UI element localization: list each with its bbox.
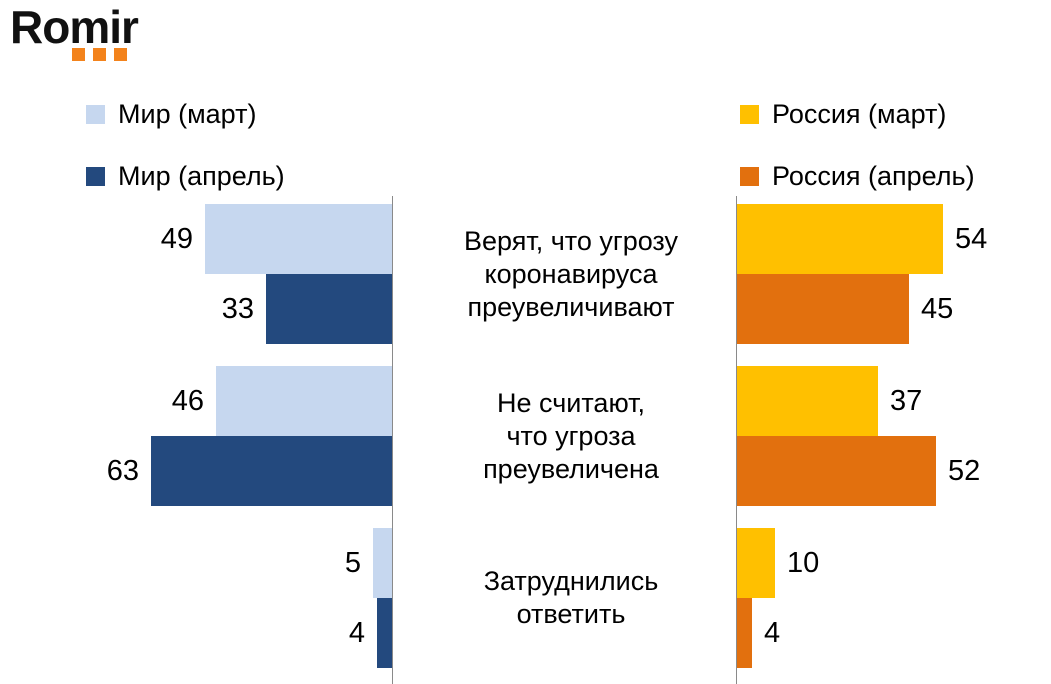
legend-swatch-world-march (86, 105, 105, 124)
bar-value-label: 46 (172, 385, 204, 417)
legend-swatch-russia-march (740, 105, 759, 124)
bar-row: 4 (377, 598, 392, 668)
logo-square-icon-1 (72, 48, 85, 61)
bar (205, 204, 392, 274)
category-label: Затруднилисьответить (412, 565, 730, 631)
bar (373, 528, 392, 598)
bar-value-label: 52 (948, 455, 980, 487)
category-label-line: преувеличивают (412, 291, 730, 324)
legend-item-world-march: Мир (март) (86, 83, 285, 145)
category-label-line: Не считают, (412, 387, 730, 420)
bar-value-label: 10 (787, 547, 819, 579)
logo-square-icon-2 (93, 48, 106, 61)
bar (216, 366, 392, 436)
bar-value-label: 4 (764, 617, 780, 649)
category-label: Не считают,что угрозапреувеличена (412, 387, 730, 486)
bar-row: 46 (216, 366, 392, 436)
category-label-line: коронавируса (412, 258, 730, 291)
legend-world: Мир (март) Мир (апрель) (86, 83, 285, 207)
bar-row: 37 (737, 366, 878, 436)
bar-row: 63 (151, 436, 392, 506)
bar (737, 366, 878, 436)
bar (151, 436, 392, 506)
legend-label-russia-april: Россия (апрель) (772, 161, 975, 191)
legend-item-russia-march: Россия (март) (740, 83, 975, 145)
bar-row: 54 (737, 204, 943, 274)
bar-value-label: 5 (345, 547, 361, 579)
category-label: Верят, что угрозукоронавирусапреувеличив… (412, 225, 730, 324)
category-label-line: Верят, что угрозу (412, 225, 730, 258)
romir-logo: Romir (8, 4, 208, 66)
legend-swatch-russia-april (740, 167, 759, 186)
bar (377, 598, 392, 668)
bar-value-label: 37 (890, 385, 922, 417)
bar-value-label: 63 (107, 455, 139, 487)
legend-label-world-april: Мир (апрель) (118, 161, 285, 191)
bar-value-label: 45 (921, 293, 953, 325)
bar-row: 10 (737, 528, 775, 598)
bar-value-label: 49 (161, 223, 193, 255)
legend-label-russia-march: Россия (март) (772, 99, 946, 129)
logo-square-icon-3 (114, 48, 127, 61)
category-label-line: ответить (412, 598, 730, 631)
legend-russia: Россия (март) Россия (апрель) (740, 83, 975, 207)
axis-line-left (392, 196, 393, 684)
legend-label-world-march: Мир (март) (118, 99, 256, 129)
bar (737, 598, 752, 668)
bar-row: 45 (737, 274, 909, 344)
bar-row: 49 (205, 204, 392, 274)
bar-value-label: 4 (349, 617, 365, 649)
bar-value-label: 54 (955, 223, 987, 255)
bar (737, 436, 936, 506)
bar-row: 52 (737, 436, 936, 506)
category-label-line: что угроза (412, 420, 730, 453)
legend-swatch-world-april (86, 167, 105, 186)
bar (266, 274, 392, 344)
bar-value-label: 33 (222, 293, 254, 325)
category-label-line: Затруднились (412, 565, 730, 598)
bar-row: 33 (266, 274, 392, 344)
bar-row: 4 (737, 598, 752, 668)
bar (737, 528, 775, 598)
bar (737, 274, 909, 344)
bar (737, 204, 943, 274)
logo-wordmark: Romir (10, 4, 138, 50)
bar-chart-world: 4933466354 (40, 196, 393, 684)
bar-row: 5 (373, 528, 392, 598)
bar-chart-russia: 54453752104 (736, 196, 1051, 684)
category-label-column: Верят, что угрозукоронавирусапреувеличив… (412, 196, 730, 684)
category-label-line: преувеличена (412, 453, 730, 486)
